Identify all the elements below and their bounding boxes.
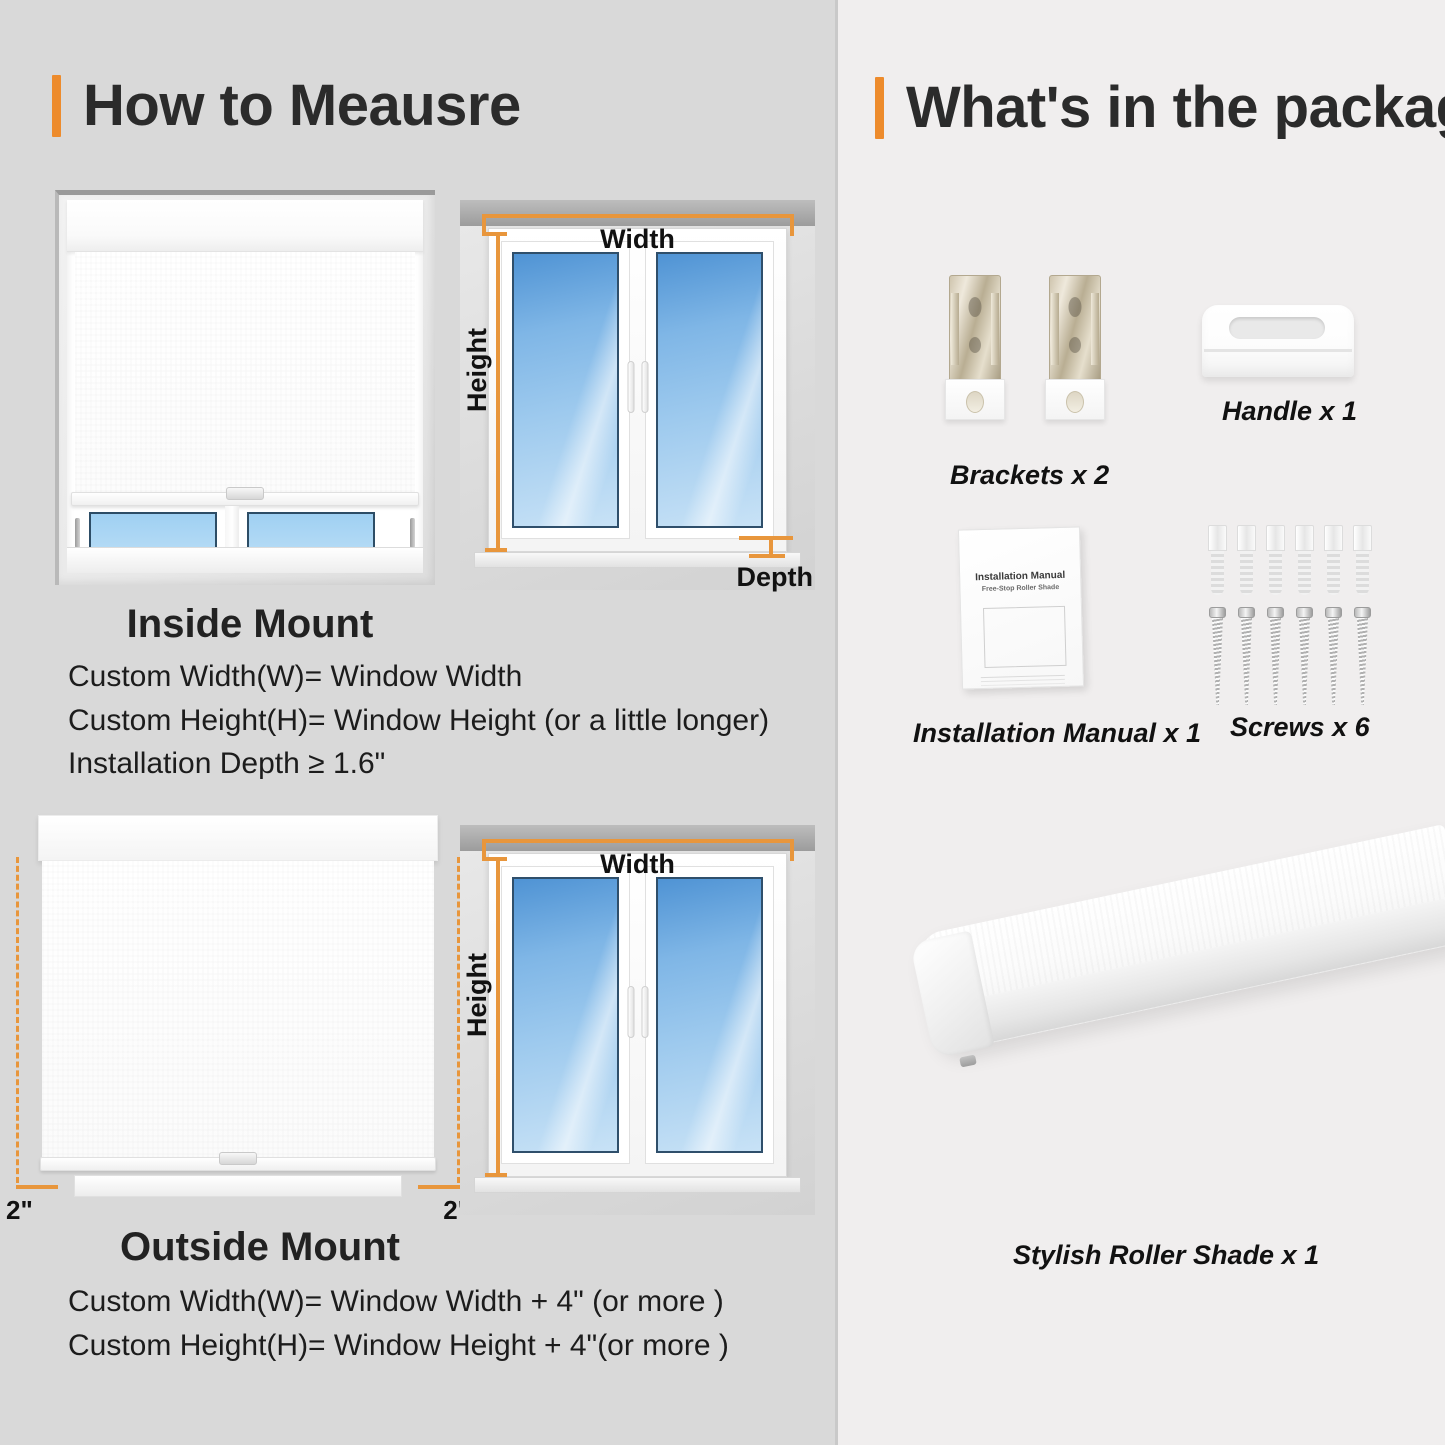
screw-icon-5	[1325, 607, 1342, 705]
screw-head	[1209, 607, 1226, 618]
diagram-window-handles	[627, 361, 648, 413]
anchor-body	[1269, 551, 1282, 595]
anchor-body	[1211, 551, 1224, 595]
window-handle-left-icon	[627, 361, 634, 413]
diagram-header-beam	[460, 200, 815, 226]
infographic-stage: How to Meausre	[0, 0, 1445, 1445]
screw-shank	[1357, 618, 1368, 705]
outside-shade-valance	[38, 815, 438, 861]
screw-head	[1325, 607, 1342, 618]
screw-shank	[1328, 618, 1339, 705]
screws-item	[1208, 525, 1388, 705]
wall-anchor-icon-5	[1324, 525, 1343, 595]
anchor-head	[1353, 525, 1372, 551]
left-heading-text: How to Meausre	[83, 72, 521, 139]
shade-fabric	[75, 252, 415, 492]
diagram-window-frame	[488, 228, 787, 552]
screw-icon-6	[1354, 607, 1371, 705]
height-dimension-cap-top	[485, 232, 507, 236]
diagram-glass-left	[512, 252, 619, 528]
screw-head	[1238, 607, 1255, 618]
window-handle-right-icon	[641, 986, 648, 1038]
diagram-sash-left	[501, 241, 630, 539]
installation-manual-icon: Installation Manual Free-Stop Roller Sha…	[958, 526, 1084, 689]
glass-highlight	[664, 252, 763, 528]
width-dimension-line	[482, 214, 794, 218]
overhang-label-left: 2"	[6, 1195, 33, 1226]
roller-shade-pin	[959, 1054, 977, 1067]
screw-shank	[1270, 618, 1281, 705]
wall-anchor-icon-4	[1295, 525, 1314, 595]
anchor-head	[1295, 525, 1314, 551]
outside-mount-illustration: 2" 2"	[38, 805, 438, 1195]
height-dimension-line	[496, 232, 500, 552]
glass-highlight	[664, 877, 763, 1153]
shade-bottom-rail	[71, 492, 419, 506]
right-heading-text: What's in the package	[906, 74, 1445, 141]
wall-anchor-icon-2	[1237, 525, 1256, 595]
width-label: Width	[600, 849, 675, 880]
diagram-window-sill	[474, 1177, 801, 1193]
outside-shade-bottom-rail	[40, 1157, 436, 1171]
height-dimension-cap-bottom	[485, 548, 507, 552]
outside-mount-line-1: Custom Width(W)= Window Width + 4" (or m…	[68, 1280, 828, 1324]
inside-mount-line-3: Installation Depth ≥ 1.6"	[68, 742, 828, 786]
inside-mount-title: Inside Mount	[0, 602, 500, 647]
installation-manual-label: Installation Manual x 1	[913, 718, 1201, 749]
bracket-slot-b	[1069, 337, 1081, 353]
brackets-label: Brackets x 2	[950, 460, 1109, 491]
bracket-slot-a	[1069, 297, 1082, 317]
inside-mount-line-1: Custom Width(W)= Window Width	[68, 655, 828, 699]
bottom-rail-handle-icon	[226, 487, 264, 500]
screw-head	[1267, 607, 1284, 618]
accent-bar-icon	[52, 75, 61, 137]
width-label: Width	[600, 224, 675, 255]
window-opening	[67, 200, 423, 573]
bracket-wing-left	[1051, 293, 1059, 365]
inside-mount-illustration	[55, 190, 435, 585]
diagram-header-beam	[460, 825, 815, 851]
diagram-window-handles	[627, 986, 648, 1038]
screw-icon-4	[1296, 607, 1313, 705]
outside-window-sill	[74, 1175, 402, 1197]
handle-icon	[1202, 305, 1354, 377]
shade-valance	[67, 200, 423, 252]
window-sill	[67, 547, 423, 573]
screw-head	[1354, 607, 1371, 618]
glass-highlight	[520, 252, 619, 528]
screw-icon-1	[1209, 607, 1226, 705]
left-panel-heading: How to Meausre	[52, 72, 521, 139]
overhang-guide-left	[16, 857, 19, 1183]
package-contents-panel: What's in the package	[838, 0, 1445, 1445]
window-handle-left-icon	[627, 986, 634, 1038]
overhang-arrow-right	[418, 1185, 460, 1189]
outside-mount-title: Outside Mount	[0, 1225, 520, 1270]
height-dimension-line	[496, 857, 500, 1177]
inside-mount-measure-diagram: Width Height Depth	[460, 200, 815, 590]
diagram-sash-left	[501, 866, 630, 1164]
outside-shade-fabric	[42, 861, 434, 1161]
bracket-wing-right	[991, 293, 999, 365]
right-panel-heading: What's in the package	[875, 74, 1445, 141]
wall-anchor-icon-3	[1266, 525, 1285, 595]
outside-rail-handle-icon	[219, 1152, 257, 1165]
height-dimension-cap-bottom	[485, 1173, 507, 1177]
bracket-slot-b	[969, 337, 981, 353]
diagram-glass-right	[656, 877, 763, 1153]
screw-shank	[1241, 618, 1252, 705]
manual-cover-title: Installation Manual	[960, 569, 1080, 583]
bracket-icon-1	[945, 275, 1005, 420]
height-label: Height	[462, 328, 493, 412]
anchor-head	[1324, 525, 1343, 551]
depth-dimension-base	[749, 554, 785, 558]
depth-dimension-tick	[769, 536, 773, 556]
screw-shank	[1212, 618, 1223, 705]
roller-shade-label: Stylish Roller Shade x 1	[1013, 1240, 1319, 1271]
overhang-arrow-left	[16, 1185, 58, 1189]
outside-mount-line-2: Custom Height(H)= Window Height + 4"(or …	[68, 1324, 828, 1368]
bracket-slot-a	[969, 297, 982, 317]
brackets-item	[933, 275, 1133, 430]
depth-dimension-line	[739, 536, 793, 540]
accent-bar-icon	[875, 77, 884, 139]
anchor-head	[1237, 525, 1256, 551]
handle-lip	[1204, 349, 1352, 352]
height-dimension-cap-top	[485, 857, 507, 861]
window-handle-right-icon	[641, 361, 648, 413]
sash-latch-right	[410, 518, 415, 548]
diagram-sash-right	[645, 241, 774, 539]
depth-label: Depth	[737, 562, 814, 593]
screw-icon-3	[1267, 607, 1284, 705]
diagram-glass-left	[512, 877, 619, 1153]
manual-cover-subtitle: Free-Stop Roller Shade	[960, 583, 1080, 593]
anchor-body	[1298, 551, 1311, 595]
screw-shank	[1299, 618, 1310, 705]
anchor-head	[1266, 525, 1285, 551]
diagram-window-frame	[488, 853, 787, 1177]
diagram-glass-right	[656, 252, 763, 528]
bracket-mount-hole	[1066, 391, 1084, 413]
diagram-sash-right	[645, 866, 774, 1164]
anchor-body	[1240, 551, 1253, 595]
inside-mount-line-2: Custom Height(H)= Window Height (or a li…	[68, 699, 828, 743]
bracket-wing-right	[1091, 293, 1099, 365]
manual-cover-footer-lines	[981, 675, 1065, 678]
roller-shade-item	[908, 880, 1445, 1210]
outside-mount-measure-diagram: Width Height	[460, 825, 815, 1215]
handle-grip-slot	[1229, 317, 1325, 339]
bracket-mount-hole	[966, 391, 984, 413]
width-dimension-cap-right	[790, 214, 794, 236]
how-to-measure-panel: How to Meausre	[0, 0, 835, 1445]
bracket-wing-left	[951, 293, 959, 365]
anchor-head	[1208, 525, 1227, 551]
height-label: Height	[462, 953, 493, 1037]
screw-icon-2	[1238, 607, 1255, 705]
width-dimension-line	[482, 839, 794, 843]
sash-latch-left	[75, 518, 80, 548]
inside-mount-instructions: Custom Width(W)= Window Width Custom Hei…	[68, 655, 828, 786]
anchor-body	[1327, 551, 1340, 595]
manual-cover-figure	[983, 606, 1067, 668]
outside-mount-instructions: Custom Width(W)= Window Width + 4" (or m…	[68, 1280, 828, 1367]
glass-highlight	[520, 877, 619, 1153]
width-dimension-cap-right	[790, 839, 794, 861]
wall-anchor-icon-6	[1353, 525, 1372, 595]
screw-head	[1296, 607, 1313, 618]
handle-label: Handle x 1	[1222, 396, 1357, 427]
bracket-icon-2	[1045, 275, 1105, 420]
screws-label: Screws x 6	[1230, 712, 1370, 743]
wall-anchor-icon-1	[1208, 525, 1227, 595]
anchor-body	[1356, 551, 1369, 595]
